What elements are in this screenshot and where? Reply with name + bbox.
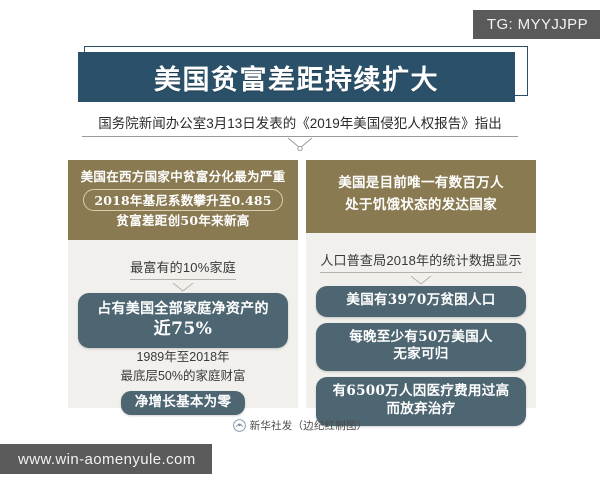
xinhua-logo-icon	[233, 419, 246, 432]
census-bureau-divider	[320, 272, 521, 273]
column-wealth-gap: 美国在西方国家中贫富分化最为严重 2018年基尼系数攀升至0.485 贫富差距创…	[68, 160, 298, 408]
column-left-header-line-2: 贫富差距创50年来新高	[74, 212, 292, 231]
column-right-header-line-1: 美国是目前唯一有数百万人	[312, 173, 530, 195]
chevron-down-icon	[170, 283, 196, 297]
credit-text: 新华社发（边纪红制图）	[250, 418, 368, 433]
poverty-population-pill: 美国有3970万贫困人口	[316, 286, 526, 317]
gini-coefficient-pill: 2018年基尼系数攀升至0.485	[83, 189, 282, 211]
site-url-watermark: www.win-aomenyule.com	[0, 444, 212, 474]
bottom-50-percent-note: 1989年至2018年 最底层50%的家庭财富	[120, 348, 245, 384]
top-10-percent-label-text: 最富有的10%家庭	[130, 257, 236, 276]
subtitle-text: 国务院新闻办公室3月13日发表的《2019年美国侵犯人权报告》指出	[82, 112, 518, 136]
homeless-pill: 每晚至少有50万美国人无家可归	[316, 323, 526, 372]
subtitle-block: 国务院新闻办公室3月13日发表的《2019年美国侵犯人权报告》指出	[82, 112, 518, 137]
column-left-header-line-1: 美国在西方国家中贫富分化最为严重	[74, 168, 292, 187]
census-bureau-label-text: 人口普查局2018年的统计数据显示	[320, 250, 521, 269]
column-hunger-poverty: 美国是目前唯一有数百万人 处于饥饿状态的发达国家 人口普查局2018年的统计数据…	[306, 160, 536, 408]
census-bureau-label: 人口普查局2018年的统计数据显示	[320, 250, 521, 276]
title-banner-fill: 美国贫富差距持续扩大	[78, 52, 515, 102]
column-right-header: 美国是目前唯一有数百万人 处于饥饿状态的发达国家	[306, 160, 536, 233]
column-right-header-line-2: 处于饥饿状态的发达国家	[312, 195, 530, 217]
column-left-body: 最富有的10%家庭 占有美国全部家庭净资产的 近75% 1989年至2018年	[68, 240, 298, 432]
columns-container: 美国在西方国家中贫富分化最为严重 2018年基尼系数攀升至0.485 贫富差距创…	[68, 160, 536, 408]
column-left-header: 美国在西方国家中贫富分化最为严重 2018年基尼系数攀升至0.485 贫富差距创…	[68, 160, 298, 240]
net-worth-share-pill: 占有美国全部家庭净资产的 近75%	[78, 293, 288, 349]
column-right-body: 人口普查局2018年的统计数据显示 美国有3970万贫困人口 每晚至少有50万美…	[306, 233, 536, 442]
bottom-50-percent-note-line-1: 1989年至2018年	[120, 348, 245, 366]
site-url-watermark-text: www.win-aomenyule.com	[18, 451, 196, 468]
credit-line: 新华社发（边纪红制图）	[0, 418, 600, 433]
top-10-percent-divider	[130, 279, 236, 280]
poverty-population-text: 美国有3970万贫困人口	[346, 292, 495, 308]
telegram-watermark: TG: MYYJJPP	[473, 10, 600, 39]
top-10-percent-label: 最富有的10%家庭	[130, 257, 236, 283]
healthcare-forgone-text: 有6500万人因医疗费用过高而放弃治疗	[333, 383, 510, 417]
title-banner: 美国贫富差距持续扩大	[78, 52, 522, 102]
bottom-50-percent-note-line-2: 最底层50%的家庭财富	[120, 367, 245, 385]
net-worth-share-line-1: 占有美国全部家庭净资产的	[97, 301, 269, 317]
infographic-canvas: TG: MYYJJPP 美国贫富差距持续扩大 国务院新闻办公室3月13日发表的《…	[0, 0, 600, 480]
telegram-watermark-text: TG: MYYJJPP	[487, 16, 588, 33]
chevron-down-icon	[408, 276, 434, 290]
net-worth-share-value: 近75%	[86, 318, 280, 340]
chevron-down-circle-icon	[287, 137, 313, 151]
homeless-text: 每晚至少有50万美国人无家可归	[349, 329, 493, 363]
zero-growth-pill: 净增长基本为零	[121, 391, 246, 416]
page-title: 美国贫富差距持续扩大	[154, 58, 439, 97]
